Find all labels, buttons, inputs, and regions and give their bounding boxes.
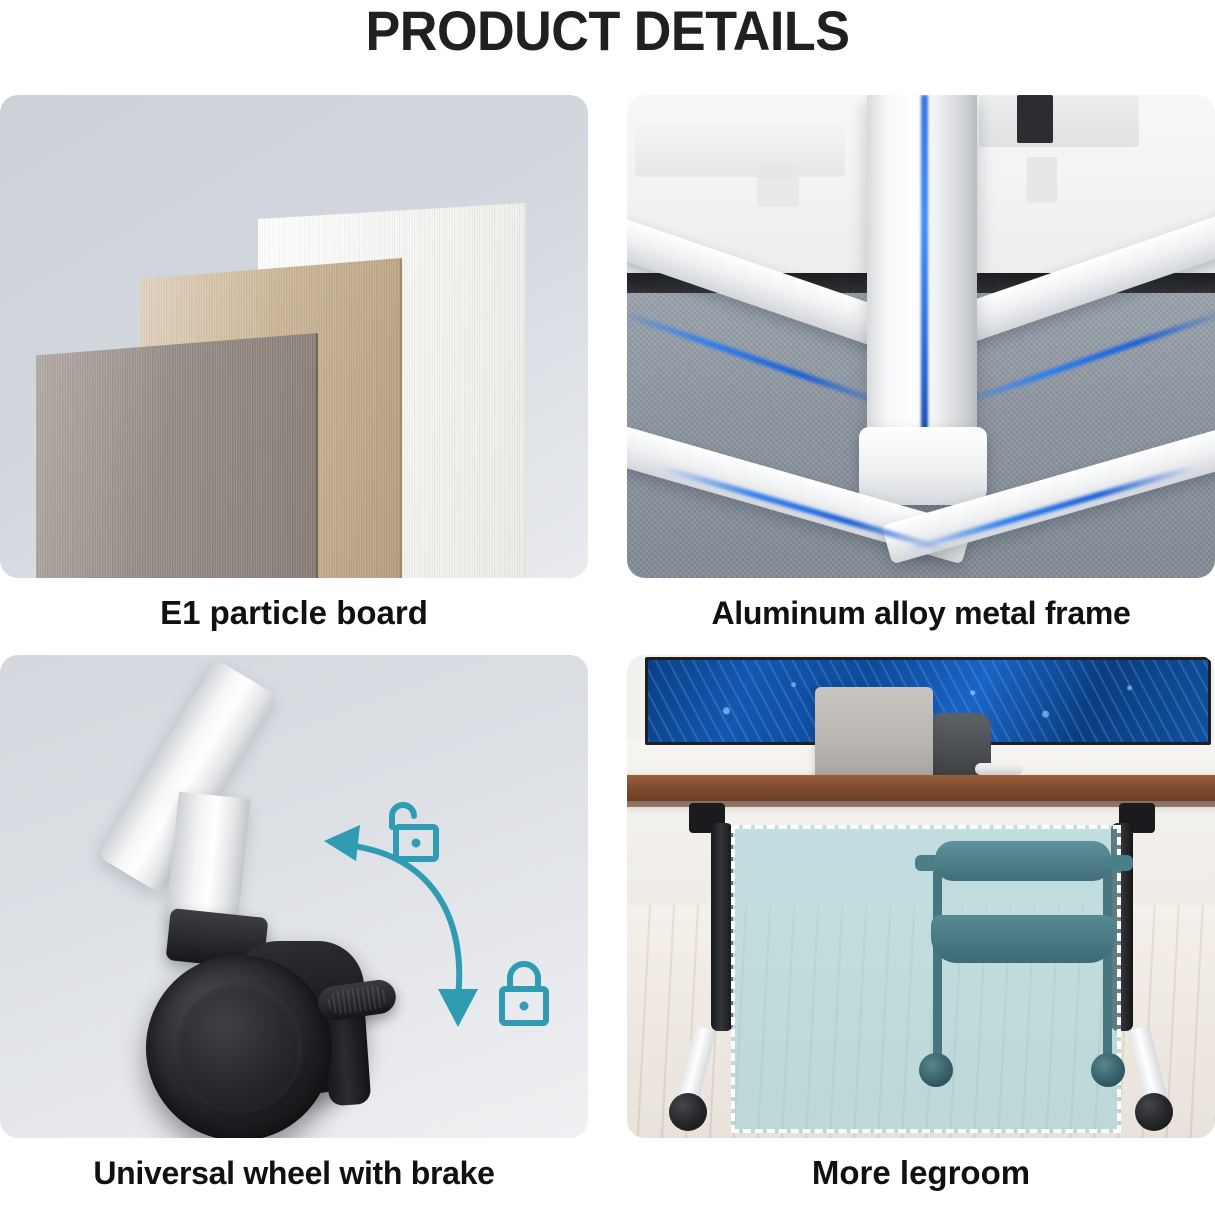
chair-backrest xyxy=(935,841,1111,881)
panel-caption-more-legroom: More legroom xyxy=(627,1152,1215,1194)
panel-caption-particle-board: E1 particle board xyxy=(0,592,588,634)
desk-caster-left xyxy=(669,1093,707,1131)
caster-wheel xyxy=(146,955,332,1138)
panel-grid: E1 particle board xyxy=(0,95,1215,1205)
panel-universal-wheel[interactable]: Universal wheel with brake xyxy=(0,655,588,1194)
laptop xyxy=(815,687,933,779)
wall-object xyxy=(635,125,845,177)
column-blue-highlight xyxy=(921,95,928,463)
panel-caption-universal-wheel: Universal wheel with brake xyxy=(0,1152,588,1194)
desk-caster-right xyxy=(1135,1093,1173,1131)
grey-board xyxy=(36,333,318,578)
legroom-highlight-box xyxy=(731,825,1121,1133)
universal-wheel-image xyxy=(0,655,588,1138)
metal-frame-image xyxy=(627,95,1215,578)
chair-frame xyxy=(933,869,942,1059)
panel-metal-frame[interactable]: Aluminum alloy metal frame xyxy=(627,95,1215,634)
wall-dark-object xyxy=(1017,95,1053,143)
panel-more-legroom[interactable]: More legroom xyxy=(627,655,1215,1194)
chair-frame xyxy=(1103,869,1112,1059)
product-details-page: PRODUCT DETAILS xyxy=(0,0,1215,1205)
more-legroom-image xyxy=(627,655,1215,1138)
chair-caster xyxy=(1091,1053,1125,1087)
page-title: PRODUCT DETAILS xyxy=(43,2,1173,60)
panel-particle-board[interactable]: E1 particle board xyxy=(0,95,588,634)
mouse xyxy=(975,763,1023,775)
wall-object xyxy=(979,95,1139,147)
curved-arrow-icon xyxy=(316,803,506,1043)
chair-seat xyxy=(931,915,1115,963)
wall-object xyxy=(757,165,799,207)
grey-board-grain xyxy=(36,333,318,578)
frame-hub xyxy=(859,427,987,505)
wall-object xyxy=(1027,157,1057,203)
caster-wheel-hub xyxy=(176,983,302,1113)
chair-caster xyxy=(919,1053,953,1087)
panel-caption-metal-frame: Aluminum alloy metal frame xyxy=(627,592,1215,634)
desk-leg-left xyxy=(711,823,733,1031)
desk-top xyxy=(627,775,1215,801)
particle-board-image xyxy=(0,95,588,578)
